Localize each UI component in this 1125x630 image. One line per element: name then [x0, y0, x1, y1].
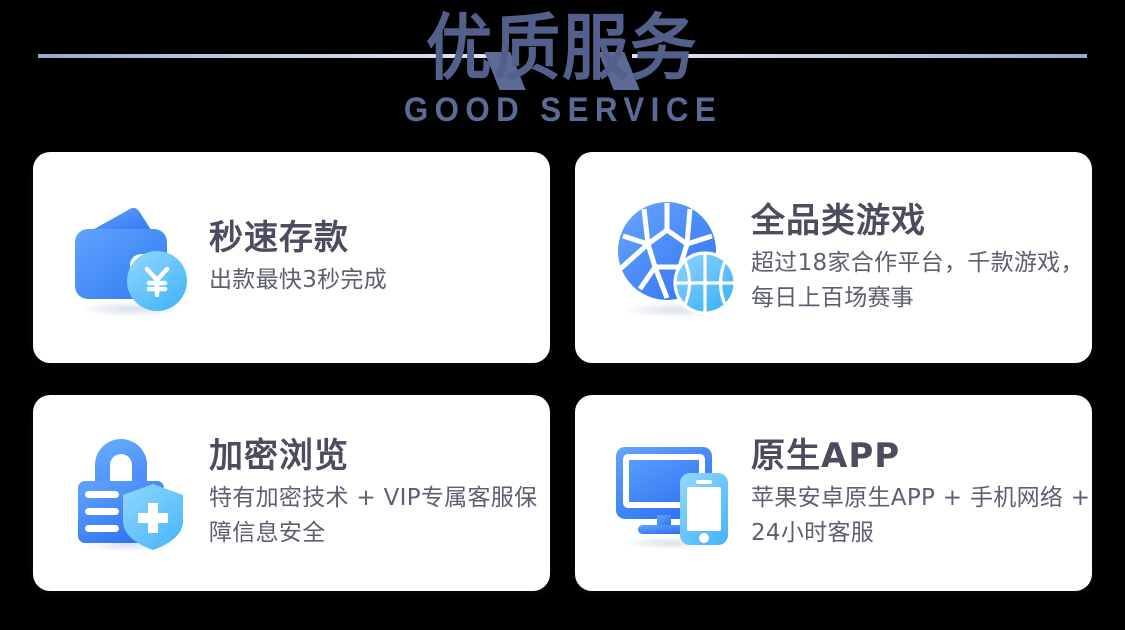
soccer-basketball-icon [605, 188, 745, 328]
promo-banner: 优质服务 GOOD SERVICE [0, 0, 1125, 630]
page-title: 优质服务 [426, 8, 698, 88]
card-description: 出款最快3秒完成 [209, 263, 387, 298]
card-title: 全品类游戏 [751, 200, 1092, 242]
monitor-phone-icon [605, 423, 745, 563]
card-title: 原生APP [751, 435, 1092, 477]
lock-shield-icon [63, 423, 203, 563]
feature-card-games[interactable]: 全品类游戏 超过18家合作平台，千款游戏，每日上百场赛事 [575, 152, 1092, 363]
page-subtitle: GOOD SERVICE [403, 90, 721, 130]
feature-card-grid: 秒速存款 出款最快3秒完成 [33, 152, 1092, 592]
card-description: 特有加密技术 + VIP专属客服保障信息安全 [209, 481, 550, 551]
feature-card-deposit[interactable]: 秒速存款 出款最快3秒完成 [33, 152, 550, 363]
card-description: 超过18家合作平台，千款游戏，每日上百场赛事 [751, 246, 1092, 316]
card-title: 秒速存款 [209, 217, 387, 259]
wallet-yen-icon [63, 188, 203, 328]
card-description: 苹果安卓原生APP + 手机网络 + 24小时客服 [751, 481, 1092, 551]
feature-card-native-app[interactable]: 原生APP 苹果安卓原生APP + 手机网络 + 24小时客服 [575, 395, 1092, 591]
card-title: 加密浏览 [209, 435, 550, 477]
feature-card-encryption[interactable]: 加密浏览 特有加密技术 + VIP专属客服保障信息安全 [33, 395, 550, 591]
header: 优质服务 GOOD SERVICE [0, 0, 1125, 150]
